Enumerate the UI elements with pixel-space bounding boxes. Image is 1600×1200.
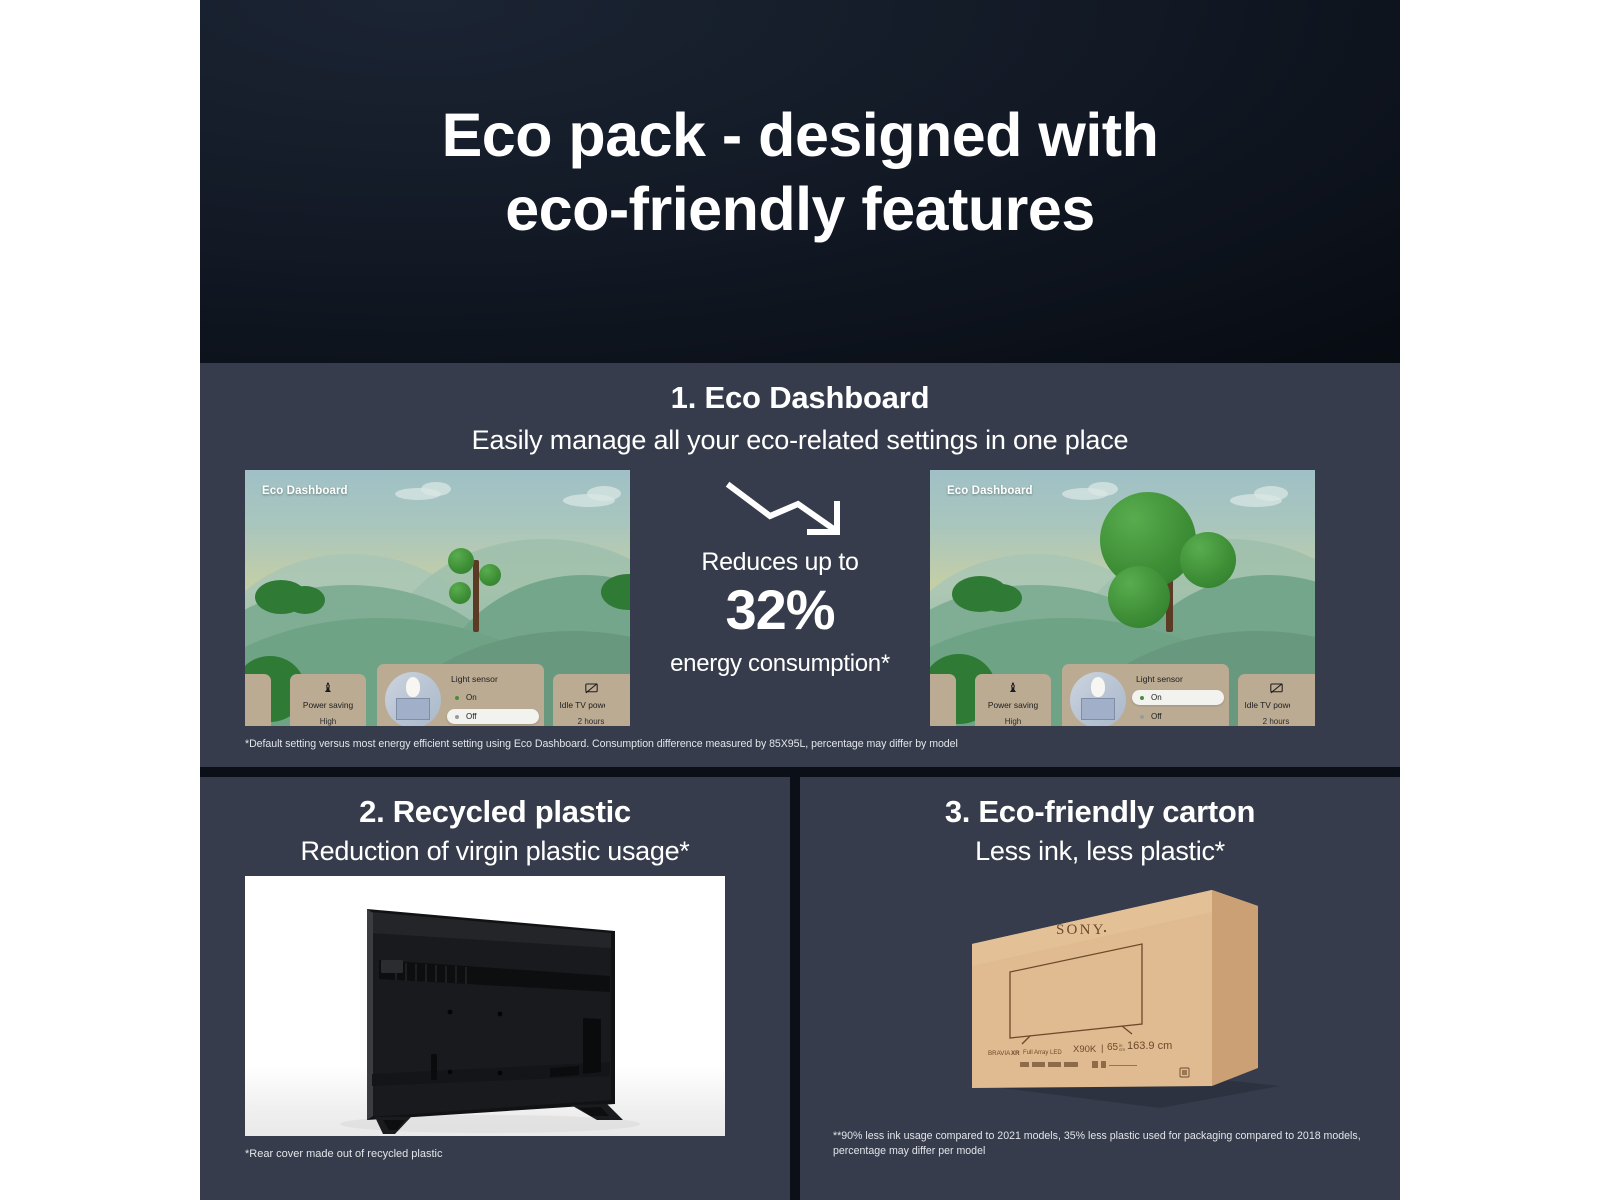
section1-subtitle: Easily manage all your eco-related setti… <box>200 425 1400 456</box>
cloud-icon <box>421 482 451 496</box>
carton-box-image: SONY BRAVIA XR Full Array LED X90K | 65 … <box>860 872 1340 1112</box>
hero-title-line-1: Eco pack - designed with <box>200 98 1400 172</box>
option-label: Off <box>466 712 477 721</box>
light-sensor-option-on[interactable]: On <box>447 690 539 705</box>
light-sensor-option-on[interactable]: On <box>1132 690 1224 705</box>
dashboard-card-light-sensor[interactable]: Light sensor On Off <box>1062 664 1229 726</box>
dashboard-card-power-saving[interactable]: ♝ Power saving High <box>975 674 1051 726</box>
option-label: On <box>466 693 477 702</box>
section1-header: 1. Eco Dashboard Easily manage all your … <box>200 380 1400 456</box>
cloud-icon <box>1254 486 1288 501</box>
eco-dashboard-screenshot-eco: Eco Dashboard ♝ Power saving High <box>930 470 1315 726</box>
tree-foliage <box>1108 566 1170 628</box>
light-sensor-title: Light sensor <box>1136 674 1183 684</box>
card-value: High <box>975 717 1051 726</box>
section2-title: 2. Recycled plastic <box>200 794 790 830</box>
card-title: Power saving <box>290 700 366 710</box>
tree-foliage <box>1180 532 1236 588</box>
light-bulb-icon <box>385 672 441 726</box>
svg-text:cm: cm <box>1119 1047 1125 1052</box>
power-saving-icon: ♝ <box>290 681 366 694</box>
light-sensor-option-off[interactable]: Off <box>447 709 539 724</box>
callout-percentage: 32% <box>630 577 930 642</box>
svg-text:|: | <box>1101 1043 1103 1054</box>
dashboard-card-partial[interactable] <box>930 674 956 726</box>
tree-foliage <box>479 564 501 586</box>
svg-text:65: 65 <box>1107 1042 1119 1053</box>
hero-banner: Eco pack - designed with eco-friendly fe… <box>200 0 1400 363</box>
dashboard-card-row: ♝ Power saving High Light sensor On <box>930 670 1315 726</box>
downward-trend-arrow-icon <box>630 478 930 540</box>
radio-dot-icon <box>455 696 459 700</box>
dashboard-card-power-saving[interactable]: ♝ Power saving High <box>290 674 366 726</box>
carton-model-text: BRAVIA <box>988 1050 1011 1057</box>
section2-subtitle: Reduction of virgin plastic usage* <box>200 836 790 867</box>
cloud-icon <box>587 486 621 501</box>
bush-shape <box>980 584 1022 612</box>
tree-trunk <box>473 560 479 632</box>
section1-footnote: *Default setting versus most energy effi… <box>245 738 1365 750</box>
dashboard-screen-label: Eco Dashboard <box>262 485 348 497</box>
light-sensor-title: Light sensor <box>451 674 498 684</box>
sony-logo-text: SONY <box>1056 922 1106 938</box>
light-sensor-option-off[interactable]: Off <box>1132 709 1224 724</box>
svg-text:XR: XR <box>1011 1050 1020 1057</box>
hero-title-line-2: eco-friendly features <box>200 172 1400 246</box>
card-value: High <box>290 717 366 726</box>
card-title: Power saving <box>975 700 1051 710</box>
poster-root: Eco pack - designed with eco-friendly fe… <box>0 0 1600 1200</box>
light-bulb-icon <box>1070 672 1126 726</box>
tv-screen-glyph <box>1081 698 1115 720</box>
dashboard-card-partial[interactable] <box>245 674 271 726</box>
radio-dot-icon <box>1140 696 1144 700</box>
option-label: Off <box>1151 712 1162 721</box>
dashboard-comparison-row: Eco Dashboard ♝ Power saving High <box>200 470 1400 726</box>
eco-dashboard-screenshot-default: Eco Dashboard ♝ Power saving High <box>245 470 630 726</box>
dashboard-card-partial[interactable] <box>605 674 630 726</box>
section2-footnote: *Rear cover made out of recycled plastic <box>245 1148 745 1160</box>
page-title: Eco pack - designed with eco-friendly fe… <box>200 98 1400 247</box>
dashboard-card-light-sensor[interactable]: Light sensor On Off <box>377 664 544 726</box>
reduction-callout: Reduces up to 32% energy consumption* <box>630 470 930 726</box>
dashboard-screen-label: Eco Dashboard <box>947 485 1033 497</box>
radio-dot-icon <box>455 715 459 719</box>
section-recycled-plastic: 2. Recycled plastic Reduction of virgin … <box>200 777 790 1200</box>
tree-foliage <box>449 582 471 604</box>
tv-rear-image <box>245 876 725 1136</box>
radio-dot-icon <box>1140 715 1144 719</box>
svg-text:Full Array LED: Full Array LED <box>1023 1050 1062 1056</box>
tv-screen-glyph <box>396 698 430 720</box>
callout-line-1: Reduces up to <box>630 548 930 577</box>
section1-title: 1. Eco Dashboard <box>200 380 1400 416</box>
vertical-divider <box>790 767 800 1200</box>
poster-canvas: Eco pack - designed with eco-friendly fe… <box>200 0 1400 1200</box>
dashboard-card-partial[interactable] <box>1290 674 1315 726</box>
horizontal-divider <box>200 767 1400 777</box>
section3-subtitle: Less ink, less plastic* <box>800 836 1400 867</box>
svg-text:163.9 cm: 163.9 cm <box>1127 1040 1172 1052</box>
power-saving-icon: ♝ <box>975 681 1051 694</box>
section-eco-dashboard: 1. Eco Dashboard Easily manage all your … <box>200 363 1400 767</box>
option-label: On <box>1151 693 1162 702</box>
tree-foliage <box>448 548 474 574</box>
bush-shape <box>285 586 325 614</box>
dashboard-card-row: ♝ Power saving High Light sensor On <box>245 670 630 726</box>
callout-line-3: energy consumption* <box>630 650 930 678</box>
svg-text:X90K: X90K <box>1073 1044 1097 1055</box>
section-eco-carton: 3. Eco-friendly carton Less ink, less pl… <box>800 777 1400 1200</box>
section3-title: 3. Eco-friendly carton <box>800 794 1400 830</box>
cloud-icon <box>1088 482 1118 496</box>
section3-footnote: **90% less ink usage compared to 2021 mo… <box>833 1129 1373 1160</box>
